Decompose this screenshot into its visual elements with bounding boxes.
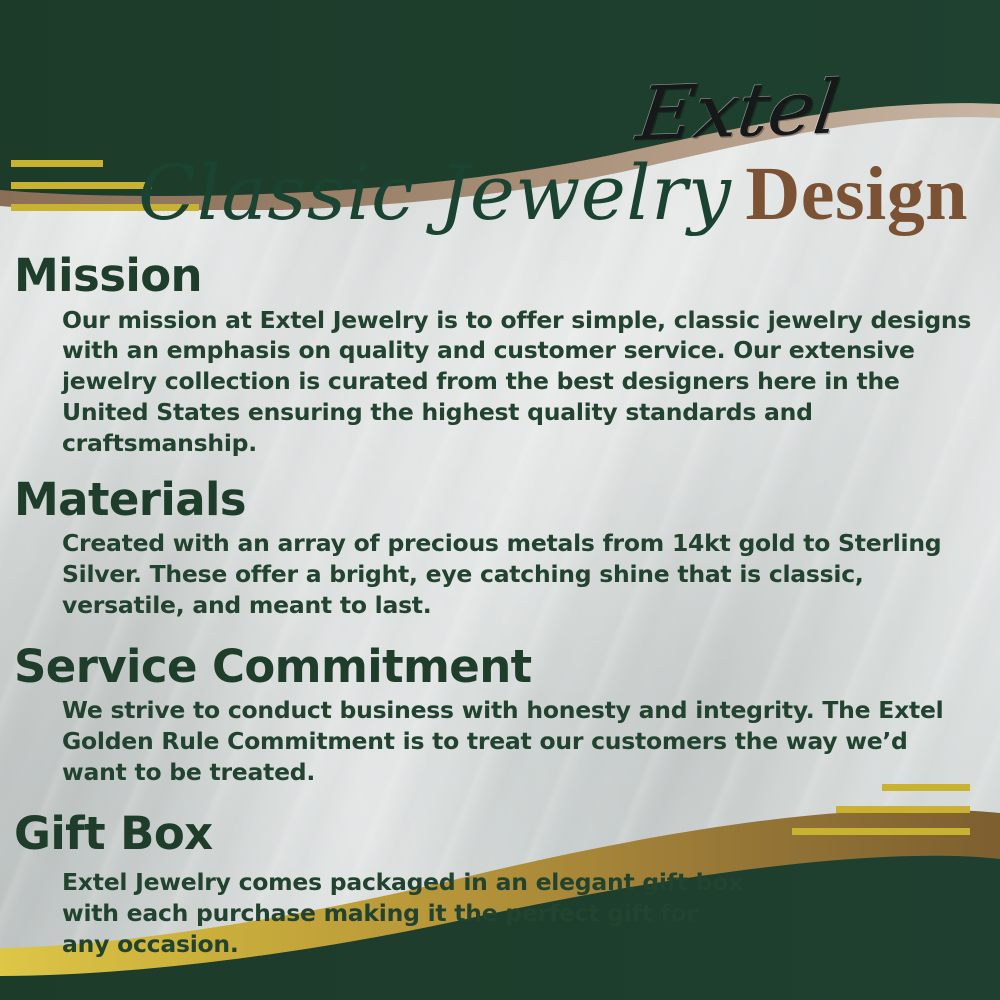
poster-canvas: Extel Classic JewelryDesign Mission Our …: [0, 0, 1000, 1000]
content-sections: Mission Our mission at Extel Jewelry is …: [0, 252, 1000, 966]
section-materials: Materials Created with an array of preci…: [0, 476, 1000, 621]
title-accent-text: Design: [745, 152, 968, 236]
section-mission: Mission Our mission at Extel Jewelry is …: [0, 252, 1000, 459]
section-heading: Gift Box: [14, 810, 1000, 858]
section-gift-box: Gift Box Extel Jewelry comes packaged in…: [0, 810, 1000, 960]
section-heading: Mission: [14, 252, 1000, 300]
section-heading: Service Commitment: [14, 643, 1000, 691]
section-heading: Materials: [14, 476, 1000, 524]
brand-logo-script: Extel: [633, 71, 842, 152]
section-service-commitment: Service Commitment We strive to conduct …: [0, 643, 1000, 788]
section-paragraph: Our mission at Extel Jewelry is to offer…: [62, 305, 972, 459]
section-paragraph: We strive to conduct business with hones…: [62, 695, 972, 787]
title-main-text: Classic Jewelry: [138, 148, 731, 237]
section-paragraph: Created with an array of precious metals…: [62, 528, 972, 620]
section-paragraph: Extel Jewelry comes packaged in an elega…: [62, 867, 750, 959]
poster-title: Classic JewelryDesign: [0, 155, 968, 232]
